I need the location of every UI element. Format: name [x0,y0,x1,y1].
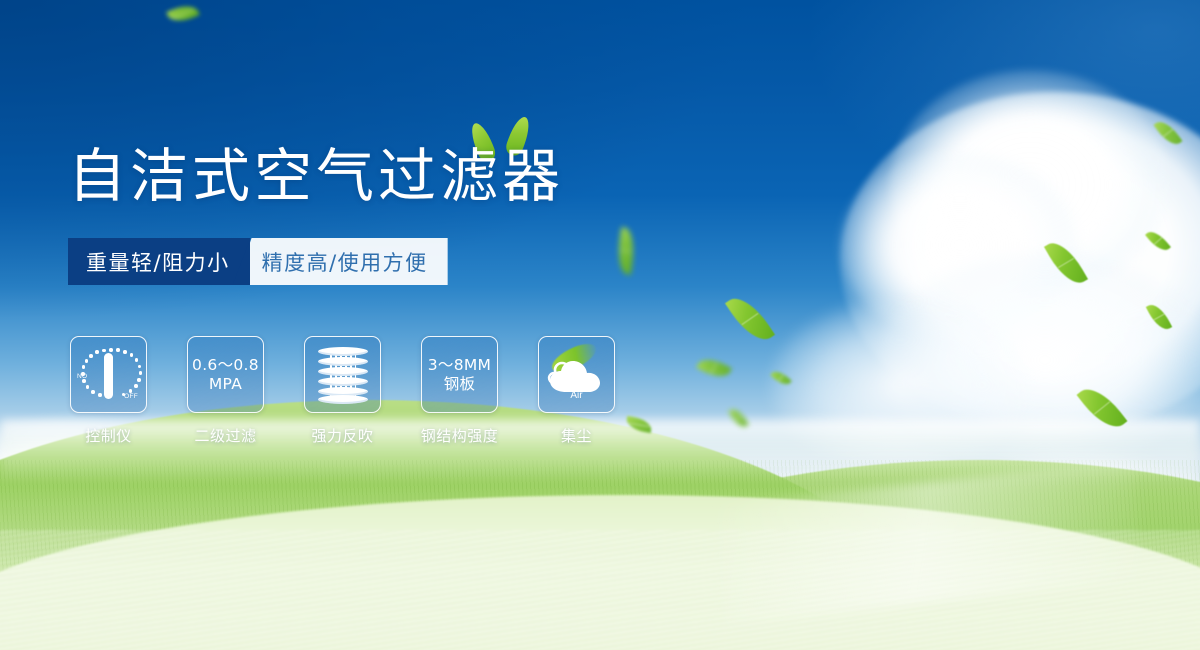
air-label: Air [546,390,608,401]
grass-field [0,420,1200,650]
feature-label: 强力反吹 [311,425,373,446]
badge-label: 精度高/使用方便 [262,247,428,277]
feature-label: 集尘 [561,425,592,446]
feature-controller[interactable]: NO OFF 控制仪 [70,336,147,446]
badge-label: 重量轻/阻力小 [86,247,230,277]
feature-icon-box: Air [538,336,615,413]
badge-lightweight-low-resistance: 重量轻/阻力小 [68,238,250,285]
steel-plate-text: 钢板 [428,375,491,394]
feature-label: 二级过滤 [194,425,256,446]
page-title: 自洁式空气过滤器 [68,146,564,207]
pressure-range-text: 0.6～0.8 [192,356,259,374]
product-hero-banner: 自洁式空气过滤器 重量轻/阻力小 精度高/使用方便 [0,0,1200,650]
feature-strong-blowback[interactable]: 强力反吹 [304,336,381,446]
steel-plate-icon: 3～8MM 钢板 [428,356,491,393]
feature-icon-row: NO OFF 控制仪 0.6～0.8 MPA 二级过滤 [70,336,615,446]
pressure-unit-text: MPA [192,375,259,394]
gauge-label-no: NO [77,373,87,380]
gauge-icon: NO OFF [71,337,146,412]
gauge-label-off: OFF [124,393,138,400]
feature-icon-box: 0.6～0.8 MPA [187,336,264,413]
filter-stack-icon [318,347,368,403]
feature-dust-collection[interactable]: Air 集尘 [538,336,615,446]
feature-steel-structure-strength[interactable]: 3～8MM 钢板 钢结构强度 [421,336,498,446]
feature-icon-box [304,336,381,413]
sky-right-glow [648,0,1200,377]
feature-two-stage-filtration[interactable]: 0.6～0.8 MPA 二级过滤 [187,336,264,446]
feature-icon-box: 3～8MM 钢板 [421,336,498,413]
subtitle-badges: 重量轻/阻力小 精度高/使用方便 [68,238,448,285]
feature-label: 钢结构强度 [421,425,499,446]
gauge-needle-icon [104,353,113,399]
pressure-icon: 0.6～0.8 MPA [192,356,259,393]
badge-high-precision-easy-use: 精度高/使用方便 [236,238,448,285]
dust-cloud-icon: Air [546,350,608,400]
steel-thickness-text: 3～8MM [428,356,491,374]
feature-icon-box: NO OFF [70,336,147,413]
feature-label: 控制仪 [85,425,132,446]
